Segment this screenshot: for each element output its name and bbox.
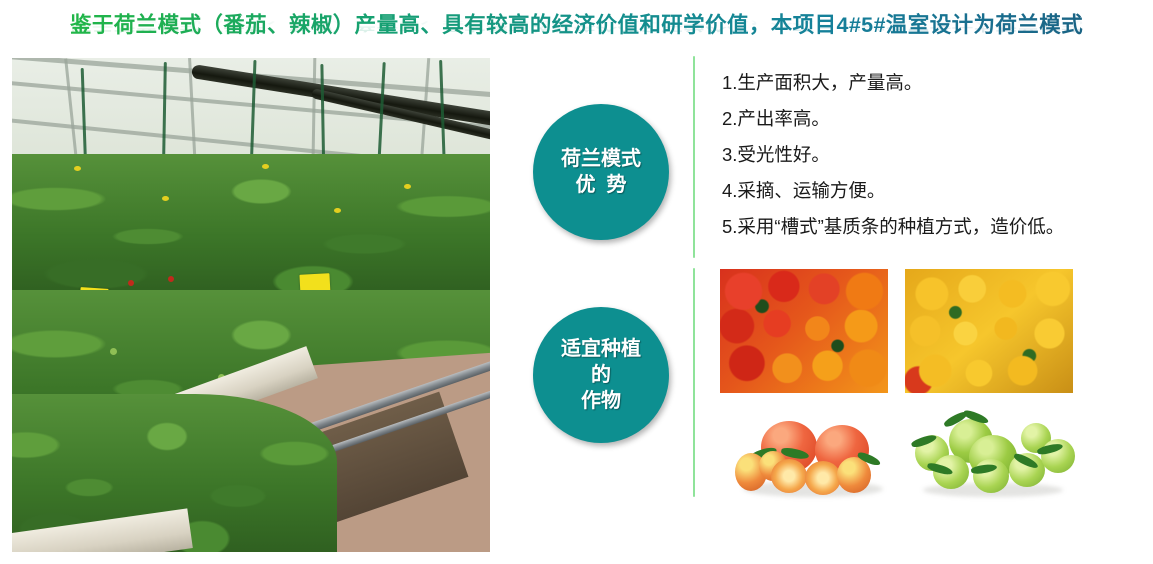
page-title: 鉴于荷兰模式（番茄、辣椒）产量高、具有较高的经济价值和研学价值，本项目4#5#温…: [0, 8, 1153, 39]
advantages-list: 1.生产面积大，产量高。 2.产出率高。 3.受光性好。 4.采摘、运输方便。 …: [722, 74, 1142, 254]
crop-photo-green-tomatoes: [903, 409, 1083, 509]
circle-suitable-crops[interactable]: 适宜种植 的 作物: [533, 307, 669, 443]
circle-advantage[interactable]: 荷兰模式 优 势: [533, 104, 669, 240]
circle-crops-line-2: 的: [591, 362, 611, 388]
tomato-flower: [162, 196, 169, 201]
list-item: 4.采摘、运输方便。: [722, 182, 1142, 201]
divider-bottom: [693, 268, 695, 497]
tomato-flower: [262, 164, 269, 169]
slide-title-area: 鉴于荷兰模式（番茄、辣椒）产量高、具有较高的经济价值和研学价值，本项目4#5#温…: [0, 8, 1153, 54]
tomato-fruit-halved: [771, 459, 807, 493]
crop-photo-yellow-tomatoes: [905, 269, 1073, 393]
divider-top: [693, 56, 695, 258]
circle-advantage-line-2: 优 势: [575, 172, 626, 198]
crop-photo-striped-tomatoes: [723, 409, 903, 509]
circle-advantage-line-1: 荷兰模式: [561, 146, 641, 172]
circle-crops-line-3: 作物: [581, 388, 621, 414]
red-tomato-fruit: [128, 280, 134, 286]
green-tomato-fruit: [110, 348, 117, 355]
tomato-flower: [74, 166, 81, 171]
red-tomato-fruit: [168, 276, 174, 282]
list-item: 5.采用“槽式”基质条的种植方式，造价低。: [722, 218, 1142, 237]
list-item: 1.生产面积大，产量高。: [722, 74, 1142, 93]
list-item: 3.受光性好。: [722, 146, 1142, 165]
crop-photo-red-orange-tomatoes: [720, 269, 888, 393]
circle-crops-line-1: 适宜种植: [561, 336, 641, 362]
tomato-fruit-halved: [805, 461, 841, 495]
tomato-flower: [404, 184, 411, 189]
greenhouse-photo: [12, 58, 490, 552]
list-item: 2.产出率高。: [722, 110, 1142, 129]
tomato-canopy-upper: [12, 154, 490, 304]
tomato-flower: [334, 208, 341, 213]
